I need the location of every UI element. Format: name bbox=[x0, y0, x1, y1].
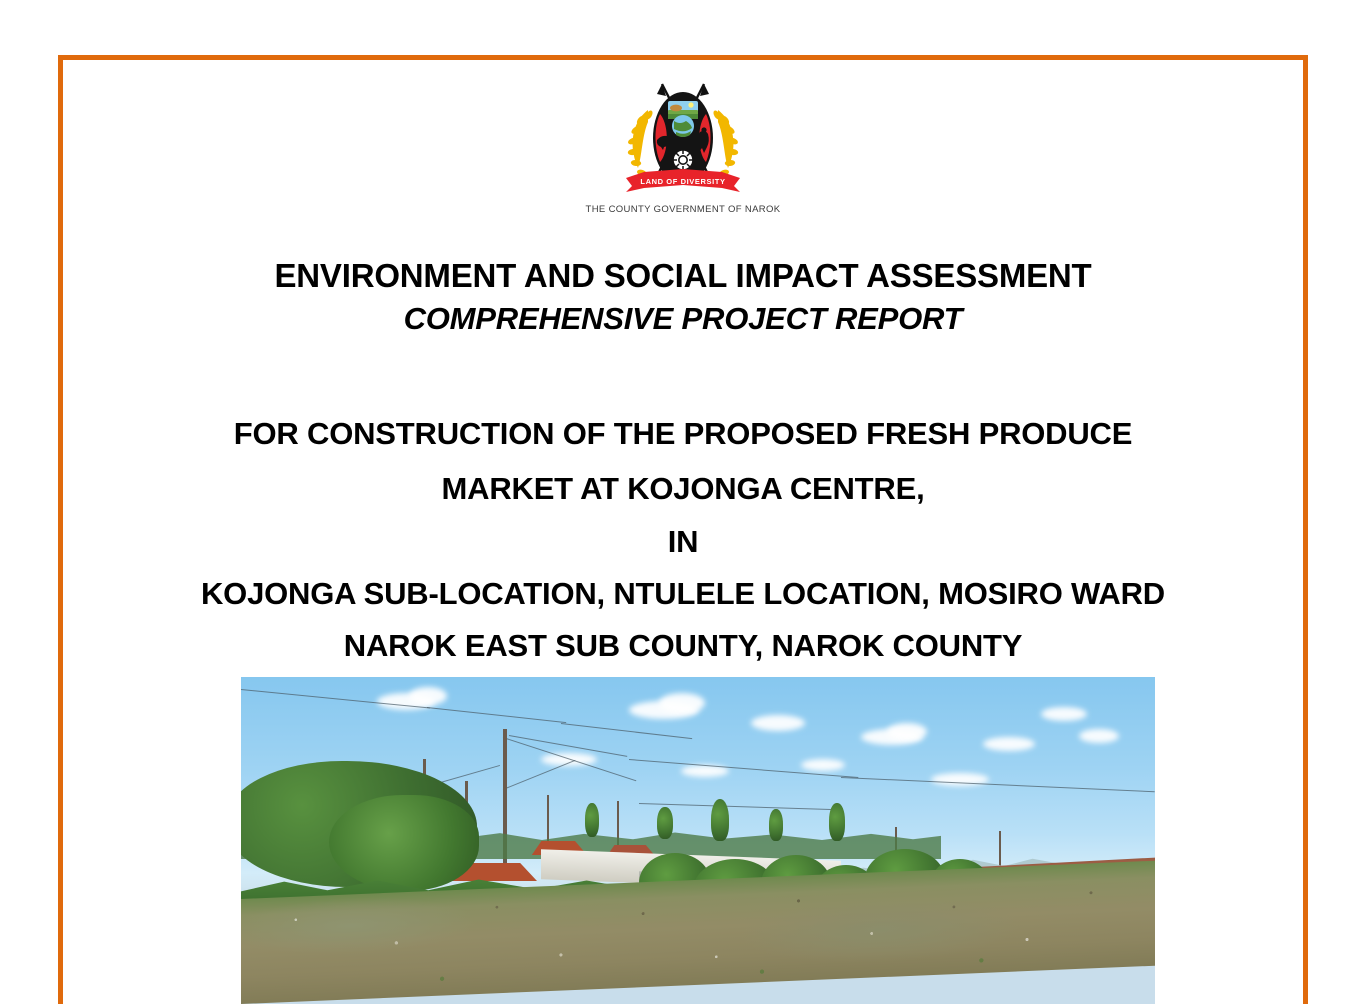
cloud bbox=[801, 759, 845, 771]
tree bbox=[829, 803, 845, 841]
cover-page-content: LAND OF DIVERSITY THE COUNTY GOVERNMENT … bbox=[63, 60, 1303, 1004]
document-page: LAND OF DIVERSITY THE COUNTY GOVERNMENT … bbox=[0, 0, 1356, 1004]
cloud bbox=[887, 723, 927, 740]
cloud bbox=[983, 737, 1035, 751]
narok-county-coat-of-arms-icon: LAND OF DIVERSITY bbox=[608, 74, 758, 202]
power-line bbox=[841, 777, 1155, 792]
project-site-photograph: KOJONGA PRI SCHOOL bbox=[241, 677, 1155, 1004]
ribbon-motto-text: LAND OF DIVERSITY bbox=[640, 177, 725, 186]
cloud bbox=[409, 687, 447, 705]
cloud bbox=[1041, 707, 1087, 721]
cloud bbox=[751, 715, 805, 731]
site-photo-frame: KOJONGA PRI SCHOOL bbox=[241, 677, 1155, 1004]
tree bbox=[769, 809, 783, 841]
tree bbox=[657, 807, 673, 839]
cloud bbox=[1079, 729, 1119, 743]
report-subject-line-1: FOR CONSTRUCTION OF THE PROPOSED FRESH P… bbox=[63, 406, 1303, 461]
power-line bbox=[503, 760, 576, 790]
tree bbox=[711, 799, 729, 841]
emblem-block: LAND OF DIVERSITY THE COUNTY GOVERNMENT … bbox=[63, 60, 1303, 215]
report-subject-block: FOR CONSTRUCTION OF THE PROPOSED FRESH P… bbox=[63, 406, 1303, 673]
power-line bbox=[561, 723, 692, 739]
report-location-line-1: KOJONGA SUB-LOCATION, NTULELE LOCATION, … bbox=[63, 568, 1303, 620]
report-subject-line-2: MARKET AT KOJONGA CENTRE, bbox=[63, 461, 1303, 516]
tree bbox=[585, 803, 599, 837]
emblem-caption: THE COUNTY GOVERNMENT OF NAROK bbox=[586, 204, 781, 215]
report-location-line-2: NAROK EAST SUB COUNTY, NAROK COUNTY bbox=[63, 620, 1303, 672]
power-line bbox=[427, 707, 566, 723]
cloud bbox=[659, 693, 705, 713]
foreground-bush bbox=[329, 795, 479, 891]
power-line bbox=[503, 737, 636, 781]
report-subject-line-3: IN bbox=[63, 516, 1303, 568]
report-title-line-1: ENVIRONMENT AND SOCIAL IMPACT ASSESSMENT bbox=[63, 255, 1303, 297]
report-title-line-2: COMPREHENSIVE PROJECT REPORT bbox=[63, 299, 1303, 339]
